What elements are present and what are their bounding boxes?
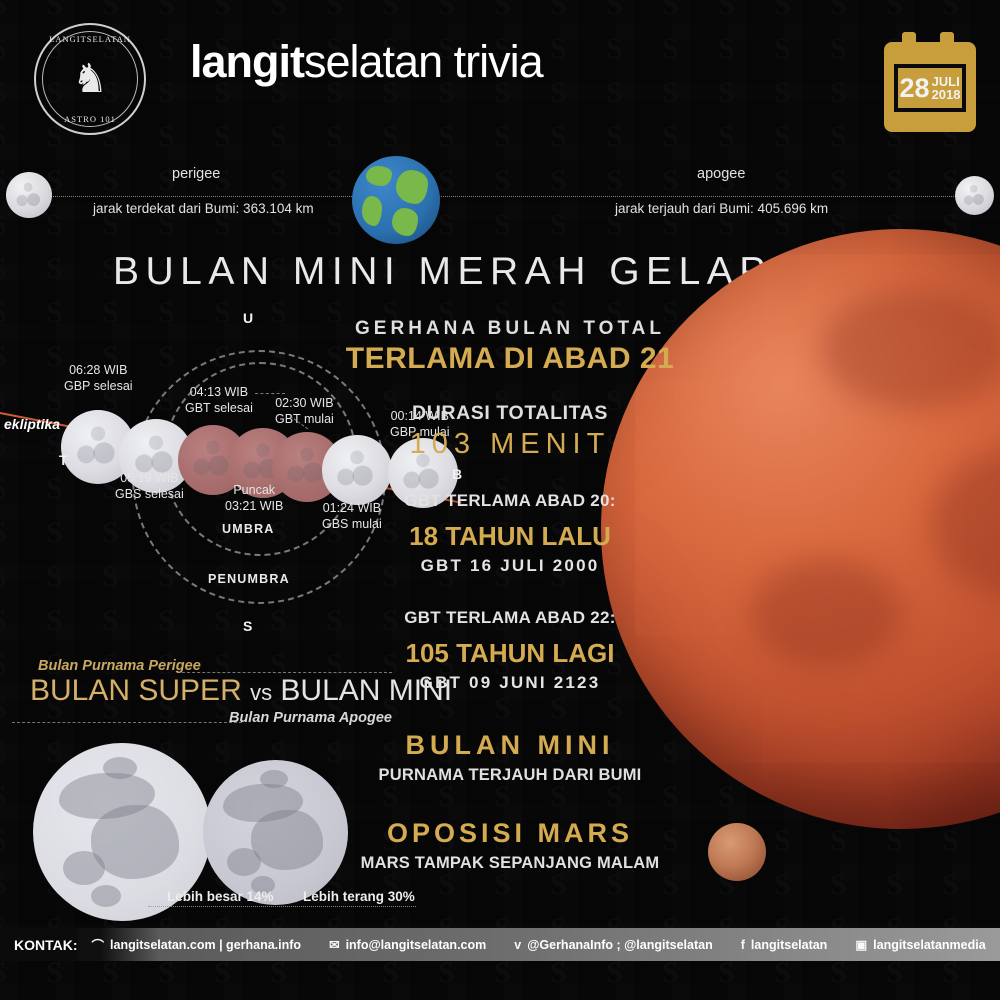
perigee-connector-line <box>46 196 354 197</box>
compare-line-top <box>182 672 392 673</box>
watermark-letter: S <box>270 958 287 988</box>
logo-bottom-text: ASTRO 101 <box>36 114 144 124</box>
watermark-letter: S <box>438 166 455 196</box>
footer-item-text: langitselatanmedia <box>873 938 986 952</box>
date-badge: 28 JULI 2018 <box>884 32 976 132</box>
watermark-letter: S <box>830 826 847 856</box>
phase-event: GBT mulai <box>275 412 334 426</box>
watermark-letter: S <box>718 958 735 988</box>
watermark-letter: S <box>774 122 791 152</box>
calendar-month: JULI <box>932 75 961 88</box>
watermark-letter: S <box>0 122 7 152</box>
watermark-letter: S <box>382 0 399 20</box>
watermark-letter: S <box>326 0 343 20</box>
logo-top-text: LANGITSELATAN <box>36 34 144 44</box>
watermark-letter: S <box>662 166 679 196</box>
watermark-letter: S <box>0 210 7 240</box>
perigee-moon <box>6 172 52 218</box>
watermark-letter: S <box>270 122 287 152</box>
watermark-letter: S <box>774 166 791 196</box>
peak-text: Puncak <box>233 483 275 497</box>
watermark-letter: S <box>718 34 735 64</box>
apogee-connector-line <box>438 196 958 197</box>
watermark-letter: S <box>942 958 959 988</box>
infographic-canvas: SSSSSSSSSSSSSSSSSSSSSSSSSSSSSSSSSSSSSSSS… <box>0 0 1000 1000</box>
earth-landmass <box>366 166 392 186</box>
contact-footer: KONTAK: ⌒ langitselatan.com | gerhana.in… <box>0 928 1000 961</box>
phase-event: GBP selesai <box>64 379 133 393</box>
apogee-label: apogee <box>697 166 745 182</box>
watermark-letter: S <box>326 210 343 240</box>
watermark-letter: S <box>886 166 903 196</box>
compare-caption-line <box>148 906 416 907</box>
minimoon-image <box>203 760 348 905</box>
watermark-letter: S <box>438 210 455 240</box>
calendar-day: 28 <box>900 75 930 102</box>
watermark-letter: S <box>438 0 455 20</box>
watermark-letter: S <box>494 166 511 196</box>
instagram-icon: ▣ <box>855 937 867 952</box>
calendar-year: 2018 <box>932 88 961 101</box>
logo-inner-ring <box>42 31 138 127</box>
earth-landmass <box>396 170 428 204</box>
phase-time: 06:28 WIB <box>69 363 127 377</box>
watermark-letter: S <box>774 0 791 20</box>
compare-head-left: BULAN SUPER <box>30 674 242 707</box>
calendar-month-year: JULI 2018 <box>932 75 961 102</box>
watermark-letter: S <box>886 958 903 988</box>
watermark-letter: S <box>662 34 679 64</box>
watermark-letter: S <box>718 0 735 20</box>
direction-label-up: U <box>243 310 253 326</box>
rss-icon: ⌒ <box>92 935 105 954</box>
phase-time: 02:30 WIB <box>275 396 333 410</box>
watermark-letter: S <box>46 0 63 20</box>
watermark-letter: S <box>270 166 287 196</box>
caption-size: Lebih besar 14% <box>167 889 274 904</box>
watermark-letter: S <box>46 210 63 240</box>
watermark-letter: S <box>830 34 847 64</box>
earth-landmass <box>362 196 382 226</box>
direction-label-east: B <box>452 466 462 482</box>
compare-head-vs: vs <box>250 680 272 705</box>
watermark-letter: S <box>158 0 175 20</box>
footer-item-twitter[interactable]: ᴠ @GerhanaInfo ; @langitselatan <box>500 938 726 952</box>
watermark-letter: S <box>774 870 791 900</box>
mars-image <box>708 823 766 881</box>
watermark-letter: S <box>158 78 175 108</box>
apogee-distance: jarak terjauh dari Bumi: 405.696 km <box>615 201 828 216</box>
perigee-label: perigee <box>172 166 220 182</box>
watermark-letter: S <box>942 826 959 856</box>
watermark-letter: S <box>662 78 679 108</box>
abad20-date: GBT 16 JULI 2000 <box>330 556 690 576</box>
phase-time: 05:19 WIB <box>120 471 178 485</box>
moon-mare <box>91 885 121 907</box>
watermark-letter: S <box>774 34 791 64</box>
watermark-letter: S <box>550 870 567 900</box>
abad20-kicker: GBT TERLAMA ABAD 20: <box>330 491 690 511</box>
watermark-letter: S <box>438 870 455 900</box>
watermark-letter: S <box>606 166 623 196</box>
watermark-letter: S <box>494 870 511 900</box>
earth-landmass <box>392 208 418 236</box>
compare-kicker-right: Bulan Purnama Apogee <box>229 710 392 726</box>
watermark-letter: S <box>550 782 567 812</box>
footer-item-website[interactable]: ⌒ langitselatan.com | gerhana.info <box>78 935 316 954</box>
watermark-letter: S <box>830 0 847 20</box>
calendar-icon: 28 JULI 2018 <box>884 42 976 132</box>
footer-item-text: @GerhanaInfo ; @langitselatan <box>527 938 713 952</box>
watermark-letter: S <box>158 122 175 152</box>
watermark-letter: S <box>438 958 455 988</box>
moon-mare <box>931 449 1000 599</box>
watermark-letter: S <box>494 958 511 988</box>
phase-time: 04:13 WIB <box>190 385 248 399</box>
gbt-headline: TERLAMA DI ABAD 21 <box>330 342 690 376</box>
email-icon: ✉ <box>329 937 339 952</box>
watermark-letter: S <box>0 34 7 64</box>
watermark-letter: S <box>830 78 847 108</box>
abad22-kicker: GBT TERLAMA ABAD 22: <box>330 608 690 628</box>
watermark-letter: S <box>662 782 679 812</box>
watermark-letter: S <box>830 122 847 152</box>
watermark-letter: S <box>606 78 623 108</box>
watermark-letter: S <box>438 782 455 812</box>
caption-brightness: Lebih terang 30% <box>303 889 415 904</box>
watermark-letter: S <box>606 34 623 64</box>
watermark-letter: S <box>494 694 511 724</box>
phase-label-gbp-selesai: 06:28 WIB GBP selesai <box>64 362 133 394</box>
calendar-face: 28 JULI 2018 <box>898 68 962 108</box>
watermark-letter: S <box>886 826 903 856</box>
watermark-letter: S <box>830 958 847 988</box>
duration-value: 103 MENIT <box>330 428 690 461</box>
watermark-letter: S <box>494 122 511 152</box>
watermark-letter: S <box>774 958 791 988</box>
watermark-letter: S <box>774 826 791 856</box>
watermark-letter: S <box>550 166 567 196</box>
facebook-icon: f <box>741 938 745 952</box>
phase-label-gbt-selesai: 04:13 WIB GBT selesai <box>185 384 253 416</box>
watermark-letter: S <box>382 122 399 152</box>
moon-mare <box>251 810 323 870</box>
title-bold: langit <box>190 36 304 87</box>
watermark-letter: S <box>662 870 679 900</box>
calendar-inner: 28 JULI 2018 <box>894 64 966 112</box>
abad20-value: 18 TAHUN LALU <box>330 521 690 552</box>
watermark-letter: S <box>0 958 7 988</box>
apogee-moon <box>955 176 994 215</box>
main-heading: BULAN MINI MERAH GELAP <box>113 250 772 294</box>
watermark-letter: S <box>606 870 623 900</box>
watermark-letter: S <box>0 0 7 20</box>
watermark-letter: S <box>494 210 511 240</box>
watermark-letter: S <box>830 870 847 900</box>
watermark-letter: S <box>550 0 567 20</box>
watermark-letter: S <box>886 870 903 900</box>
watermark-letter: S <box>550 958 567 988</box>
watermark-letter: S <box>606 122 623 152</box>
watermark-letter: S <box>494 782 511 812</box>
gbt-kicker: GERHANA BULAN TOTAL <box>330 318 690 340</box>
perigee-distance: jarak terdekat dari Bumi: 363.104 km <box>93 201 314 216</box>
peak-label: Puncak 03:21 WIB <box>225 482 283 514</box>
footer-item-text: info@langitselatan.com <box>346 938 487 952</box>
watermark-letter: S <box>774 78 791 108</box>
watermark-letter: S <box>214 958 231 988</box>
watermark-letter: S <box>46 254 63 284</box>
watermark-letter: S <box>662 958 679 988</box>
watermark-letter: S <box>326 122 343 152</box>
footer-item-facebook[interactable]: f langitselatan <box>727 938 842 952</box>
ecliptic-label: ekliptika <box>4 416 60 434</box>
umbra-label: UMBRA <box>222 522 275 536</box>
watermark-letter: S <box>942 870 959 900</box>
watermark-letter: S <box>438 122 455 152</box>
watermark-letter: S <box>606 0 623 20</box>
watermark-letter: S <box>662 0 679 20</box>
watermark-letter: S <box>550 210 567 240</box>
moon-mare <box>260 770 288 788</box>
watermark-letter: S <box>718 782 735 812</box>
watermark-letter: S <box>830 166 847 196</box>
duration-kicker: DURASI TOTALITAS <box>330 402 690 425</box>
phase-label-gbs-selesai: 05:19 WIB GBS selesai <box>115 470 184 502</box>
watermark-letter: S <box>46 958 63 988</box>
watermark-letter: S <box>550 694 567 724</box>
watermark-letter: S <box>0 78 7 108</box>
watermark-letter: S <box>550 34 567 64</box>
direction-label-west: T <box>59 452 68 468</box>
watermark-letter: S <box>270 0 287 20</box>
title-suffix: trivia <box>442 36 543 87</box>
watermark-letter: S <box>326 958 343 988</box>
footer-item-text: langitselatan.com | gerhana.info <box>110 938 301 952</box>
moon-mare <box>103 757 137 779</box>
footer-item-text: langitselatan <box>751 938 827 952</box>
page-title: langitselatan trivia <box>190 36 543 88</box>
compare-headline: BULAN SUPER vs BULAN MINI <box>30 674 452 708</box>
twitter-icon: ᴠ <box>514 938 521 952</box>
watermark-letter: S <box>886 0 903 20</box>
watermark-letter: S <box>606 958 623 988</box>
watermark-letter: S <box>0 254 7 284</box>
moon-mare <box>227 848 261 876</box>
watermark-letter: S <box>382 958 399 988</box>
watermark-letter: S <box>718 78 735 108</box>
watermark-letter: S <box>158 958 175 988</box>
leader-line-gbt-selesai <box>255 393 285 394</box>
compare-kicker-left: Bulan Purnama Perigee <box>38 658 201 674</box>
watermark-letter: S <box>606 782 623 812</box>
watermark-letter: S <box>718 122 735 152</box>
footer-item-instagram[interactable]: ▣ langitselatanmedia <box>841 937 999 952</box>
watermark-letter: S <box>158 34 175 64</box>
footer-item-email[interactable]: ✉ info@langitselatan.com <box>315 937 500 952</box>
watermark-letter: S <box>662 122 679 152</box>
watermark-letter: S <box>606 694 623 724</box>
watermark-letter: S <box>102 0 119 20</box>
watermark-letter: S <box>326 166 343 196</box>
title-light: selatan <box>304 36 442 87</box>
watermark-letter: S <box>102 166 119 196</box>
watermark-letter: S <box>102 958 119 988</box>
compare-head-right: BULAN MINI <box>280 674 452 707</box>
watermark-letter: S <box>550 122 567 152</box>
phase-label-gbt-mulai: 02:30 WIB GBT mulai <box>275 395 334 427</box>
peak-time: 03:21 WIB <box>225 499 283 513</box>
footer-label: KONTAK: <box>0 928 78 961</box>
watermark-letter: S <box>942 0 959 20</box>
watermark-letter: S <box>494 0 511 20</box>
moon-mare <box>751 559 901 669</box>
watermark-letter: S <box>214 0 231 20</box>
earth-icon <box>352 156 440 244</box>
penumbra-label: PENUMBRA <box>208 572 290 586</box>
moon-mare <box>63 851 105 885</box>
phase-event: GBS selesai <box>115 487 184 501</box>
compare-line-bottom <box>12 722 242 723</box>
watermark-letter: S <box>214 122 231 152</box>
langitselatan-logo: LANGITSELATAN ♞ ASTRO 101 <box>34 23 146 135</box>
watermark-letter: S <box>550 78 567 108</box>
direction-label-south: S <box>243 618 252 634</box>
moon-mare <box>821 289 1000 409</box>
phase-event: GBT selesai <box>185 401 253 415</box>
